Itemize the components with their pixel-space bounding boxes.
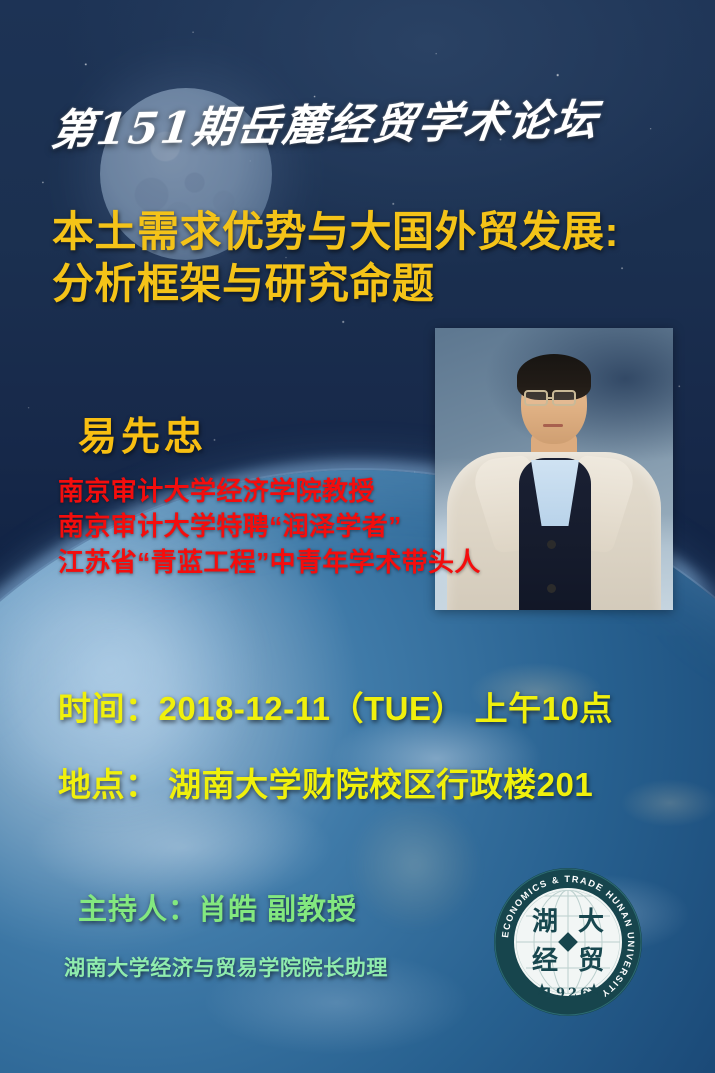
title-line-1: 本土需求优势与大国外贸发展:	[52, 206, 682, 258]
photo-glasses-right-lens	[552, 390, 576, 406]
school-seal-logo: SCHOOL OF ECONOMICS & TRADE HUNAN UNIVER…	[492, 866, 644, 1018]
poster-content: 第151期岳麓经贸学术论坛 本土需求优势与大国外贸发展: 分析框架与研究命题 易…	[0, 0, 715, 1073]
credential-line-2: 南京审计大学特聘“润泽学者”	[58, 509, 481, 544]
forum-series-header: 第151期岳麓经贸学术论坛	[48, 86, 577, 158]
photo-coat-button-lower	[547, 584, 556, 593]
poster-title: 本土需求优势与大国外贸发展: 分析框架与研究命题	[52, 206, 682, 310]
event-location: 地点： 湖南大学财院校区行政楼201	[58, 758, 593, 806]
event-time: 时间：2018-12-11（TUE） 上午10点	[58, 682, 613, 730]
seminar-poster: 第151期岳麓经贸学术论坛 本土需求优势与大国外贸发展: 分析框架与研究命题 易…	[0, 0, 715, 1073]
photo-glasses-left-lens	[524, 390, 548, 406]
photo-coat-button-upper	[547, 540, 556, 549]
title-line-2: 分析框架与研究命题	[52, 258, 682, 310]
host-organization: 湖南大学经济与贸易学院院长助理	[64, 952, 388, 982]
credential-line-3: 江苏省“青蓝工程”中青年学术带头人	[58, 545, 481, 580]
photo-mouth	[543, 424, 563, 427]
speaker-credentials: 南京审计大学经济学院教授 南京审计大学特聘“润泽学者” 江苏省“青蓝工程”中青年…	[58, 474, 481, 580]
seal-founding-year: 1926	[492, 986, 644, 1001]
speaker-name: 易先忠	[78, 406, 207, 462]
credential-line-1: 南京审计大学经济学院教授	[58, 474, 481, 509]
host-name: 主持人：肖皓 副教授	[78, 886, 357, 928]
photo-glasses-bridge	[548, 397, 554, 399]
